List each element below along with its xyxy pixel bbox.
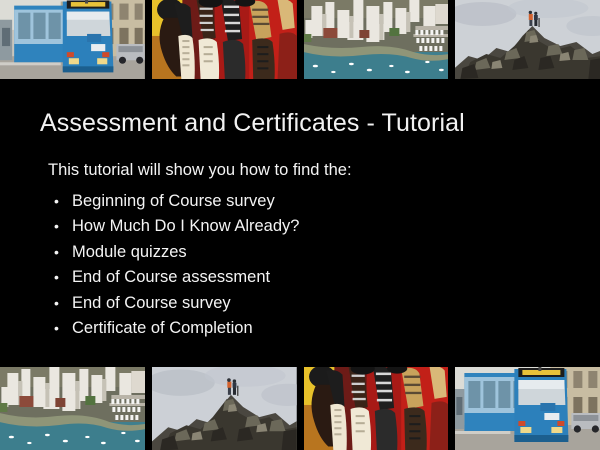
photo-electric-guitars-on-wall	[152, 0, 297, 79]
list-item-label: How Much Do I Know Already?	[72, 217, 299, 235]
bullet-point-icon: •	[54, 291, 59, 316]
bullet-point-icon: •	[54, 240, 59, 265]
list-item-label: Beginning of Course survey	[72, 192, 275, 210]
bottom-image-strip	[0, 367, 600, 450]
photo-electric-guitars-on-wall	[304, 367, 449, 450]
list-item-label: Module quizzes	[72, 243, 187, 261]
top-image-strip	[0, 0, 600, 79]
photo-aerial-coastal-harbour	[304, 0, 449, 79]
tutorial-topics-list: • Beginning of Course survey • How Much …	[62, 189, 299, 341]
list-item-label: Certificate of Completion	[72, 319, 253, 337]
photo-hikers-on-rocky-summit	[152, 367, 297, 450]
bullet-point-icon: •	[54, 265, 59, 290]
photo-blue-tram-on-city-street	[0, 0, 145, 79]
slide-intro-text: This tutorial will show you how to find …	[48, 161, 352, 180]
list-item-label: End of Course assessment	[72, 268, 270, 286]
list-item: • End of Course assessment	[62, 265, 299, 290]
list-item: • Module quizzes	[62, 240, 299, 265]
list-item: • End of Course survey	[62, 291, 299, 316]
photo-blue-tram-on-city-street	[455, 367, 600, 450]
photo-hikers-on-rocky-summit	[455, 0, 600, 79]
slide-title: Assessment and Certificates - Tutorial	[40, 109, 465, 138]
bullet-point-icon: •	[54, 214, 59, 239]
bullet-point-icon: •	[54, 189, 59, 214]
list-item: • Certificate of Completion	[62, 316, 299, 341]
slide-content-area: Assessment and Certificates - Tutorial T…	[0, 79, 600, 367]
photo-aerial-coastal-harbour	[0, 367, 145, 450]
list-item: • Beginning of Course survey	[62, 189, 299, 214]
list-item-label: End of Course survey	[72, 294, 231, 312]
bullet-point-icon: •	[54, 316, 59, 341]
list-item: • How Much Do I Know Already?	[62, 214, 299, 239]
